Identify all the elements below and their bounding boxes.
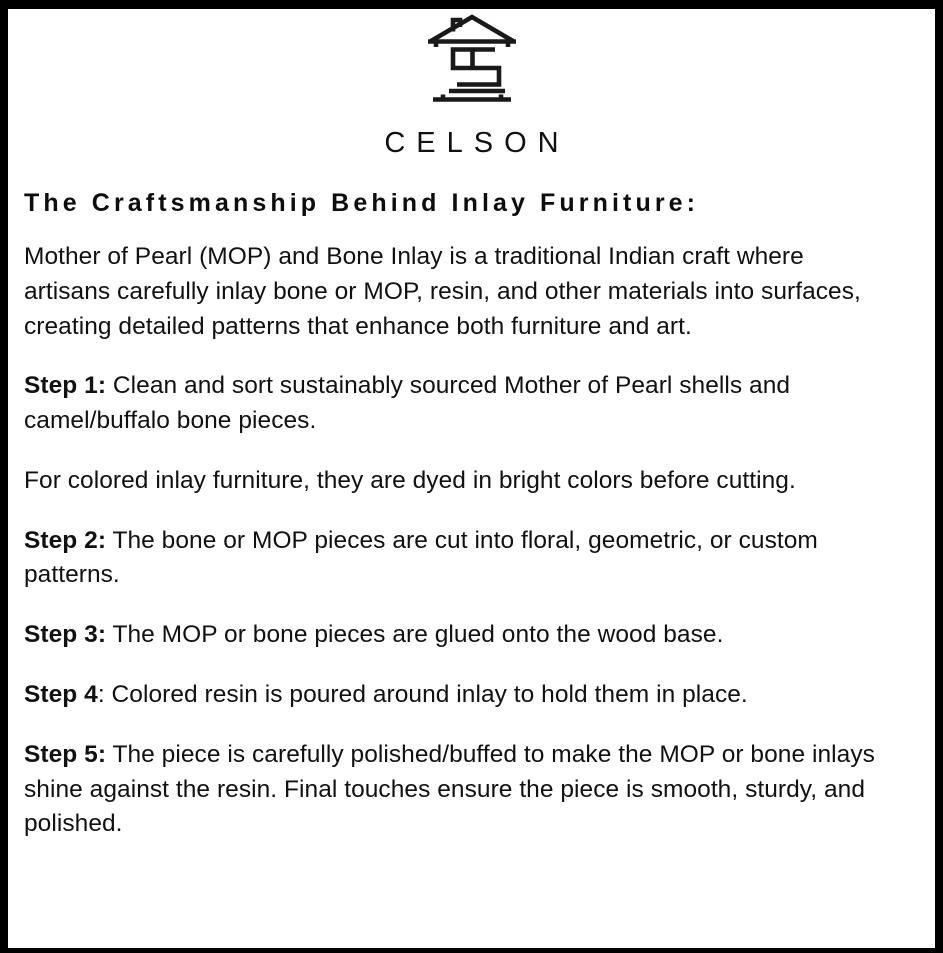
body-content: Mother of Pearl (MOP) and Bone Inlay is …: [16, 240, 927, 842]
dye-note-paragraph: For colored inlay furniture, they are dy…: [24, 464, 887, 499]
step-1-paragraph: Step 1: Clean and sort sustainably sourc…: [24, 369, 887, 439]
step-2-paragraph: Step 2: The bone or MOP pieces are cut i…: [24, 524, 887, 594]
step-1-label: Step 1:: [24, 372, 106, 399]
step-3-text: The MOP or bone pieces are glued onto th…: [106, 621, 723, 648]
intro-paragraph: Mother of Pearl (MOP) and Bone Inlay is …: [24, 240, 887, 344]
house-monogram-logo-icon: [423, 13, 521, 113]
step-4-text: Colored resin is poured around inlay to …: [105, 681, 748, 708]
step-1-text: Clean and sort sustainably sourced Mothe…: [24, 372, 790, 434]
step-4-colon: :: [98, 681, 105, 708]
step-4-label: Step 4: [24, 681, 98, 708]
step-2-text: The bone or MOP pieces are cut into flor…: [24, 527, 818, 589]
step-5-label: Step 5:: [24, 741, 106, 768]
brand-wordmark: CELSON: [16, 129, 927, 158]
step-5-paragraph: Step 5: The piece is carefully polished/…: [24, 738, 887, 842]
page-title: The Craftsmanship Behind Inlay Furniture…: [16, 188, 927, 218]
step-2-label: Step 2:: [24, 527, 106, 554]
step-3-paragraph: Step 3: The MOP or bone pieces are glued…: [24, 618, 887, 653]
poster-frame: CELSON The Craftsmanship Behind Inlay Fu…: [0, 0, 943, 953]
poster-inner: CELSON The Craftsmanship Behind Inlay Fu…: [8, 9, 935, 948]
brand-block: CELSON: [16, 9, 927, 158]
step-4-paragraph: Step 4: Colored resin is poured around i…: [24, 678, 887, 713]
step-3-label: Step 3:: [24, 621, 106, 648]
step-5-text: The piece is carefully polished/buffed t…: [24, 741, 875, 838]
